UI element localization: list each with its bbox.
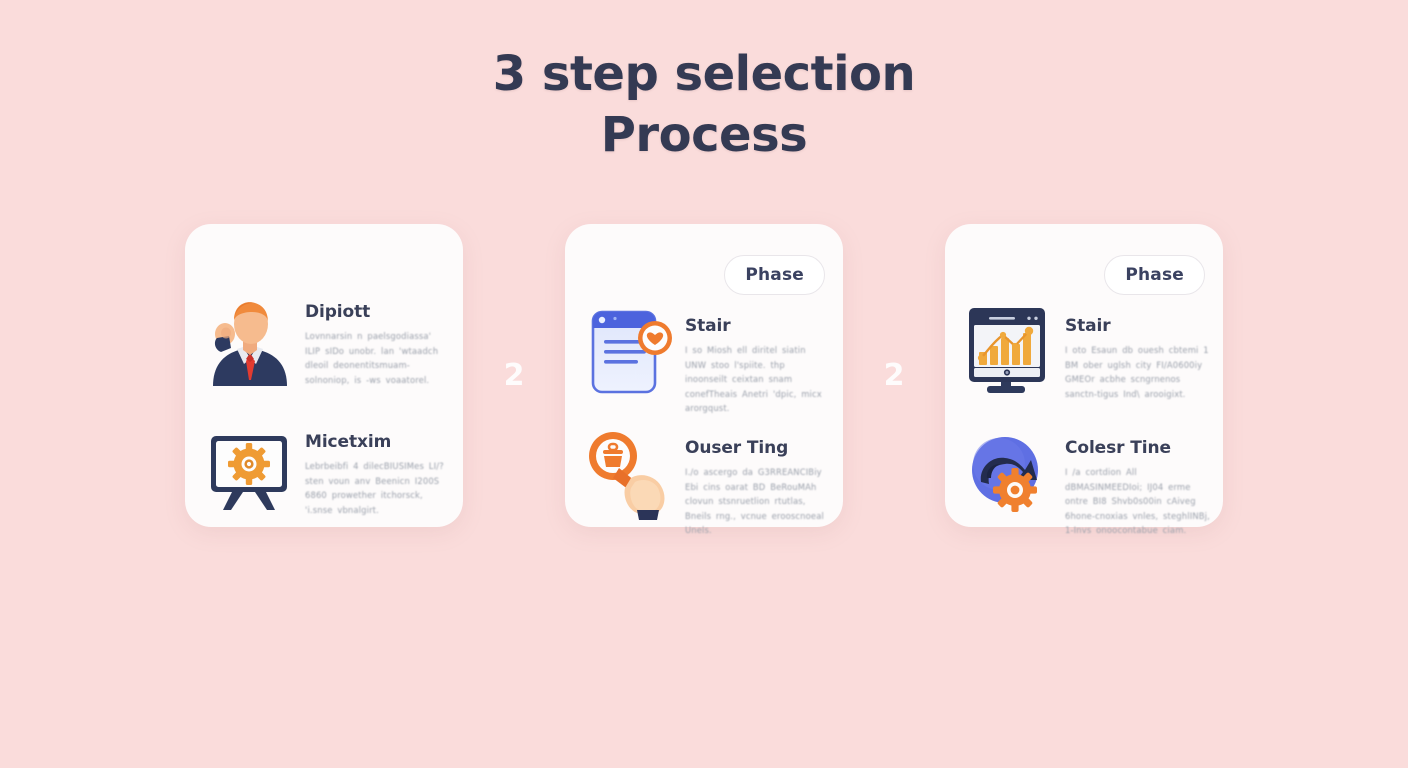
hand-click-icon — [579, 426, 679, 522]
card-3-item-1-body: I oto Esaun db ouesh cbtemi 1 BM ober ug… — [1065, 343, 1211, 401]
monitor-gear-icon — [199, 420, 299, 516]
card-2-item-1-heading: Stair — [685, 316, 831, 336]
monitor-chart-icon — [959, 302, 1059, 398]
card-1-item-2-text: Micetxim Lebrbeibfi 4 dilecBIUSIMes LI/?… — [305, 420, 451, 517]
card-1-item-2-body: Lebrbeibfi 4 dilecBIUSIMes LI/? sten vou… — [305, 459, 451, 517]
card-1-item-2-heading: Micetxim — [305, 432, 451, 452]
card-1-item-1: Dipiott Lovnnarsin n paelsgodiassa' ILIP… — [199, 290, 451, 387]
card-3-item-1: Stair I oto Esaun db ouesh cbtemi 1 BM o… — [959, 302, 1211, 401]
page-title-line-1: 3 step selection — [0, 44, 1408, 104]
step-card-2[interactable]: Phase — [565, 224, 843, 527]
page-title: 3 step selection Process — [0, 44, 1408, 165]
phase-badge-card-2[interactable]: Phase — [724, 255, 825, 295]
card-2-item-1-body: I so Miosh ell diritel siatin UNW stoo l… — [685, 343, 831, 416]
phase-badge-card-3-label: Phase — [1125, 265, 1184, 285]
card-3-item-2-text: Colesr Tine I /a cortdion All dBMASINMEE… — [1065, 426, 1211, 538]
step-card-3[interactable]: Phase — [945, 224, 1223, 527]
phase-badge-card-2-label: Phase — [745, 265, 804, 285]
businessman-icon — [199, 290, 299, 386]
card-1-item-1-text: Dipiott Lovnnarsin n paelsgodiassa' ILIP… — [305, 290, 451, 387]
document-badge-icon — [579, 302, 679, 398]
card-2-item-2-heading: Ouser Ting — [685, 438, 831, 458]
step-connector-1-label: 2 — [504, 361, 525, 391]
card-2-item-2-body: I./o ascergo da G3RREANCIBiy Ebi cins oa… — [685, 465, 831, 538]
card-3-item-2-body: I /a cortdion All dBMASINMEEDIoi; IJ04 e… — [1065, 465, 1211, 538]
card-1-item-2: Micetxim Lebrbeibfi 4 dilecBIUSIMes LI/?… — [199, 420, 451, 517]
card-2-item-2-text: Ouser Ting I./o ascergo da G3RREANCIBiy … — [685, 426, 831, 538]
circle-arrow-gear-icon — [959, 426, 1059, 522]
step-connector-1: 2 — [463, 224, 565, 527]
card-1-item-1-body: Lovnnarsin n paelsgodiassa' ILIP sIDo un… — [305, 329, 451, 387]
card-2-item-2: Ouser Ting I./o ascergo da G3RREANCIBiy … — [579, 426, 831, 538]
card-2-item-1-text: Stair I so Miosh ell diritel siatin UNW … — [685, 302, 831, 416]
phase-badge-card-3[interactable]: Phase — [1104, 255, 1205, 295]
card-3-item-1-text: Stair I oto Esaun db ouesh cbtemi 1 BM o… — [1065, 302, 1211, 401]
card-2-item-1: Stair I so Miosh ell diritel siatin UNW … — [579, 302, 831, 416]
step-connector-2: 2 — [843, 224, 945, 527]
page-title-line-2: Process — [0, 105, 1408, 165]
card-3-item-1-heading: Stair — [1065, 316, 1211, 336]
step-card-1[interactable]: Dipiott Lovnnarsin n paelsgodiassa' ILIP… — [185, 224, 463, 527]
card-1-item-1-heading: Dipiott — [305, 302, 451, 322]
card-3-item-2-heading: Colesr Tine — [1065, 438, 1211, 458]
step-connector-2-label: 2 — [884, 361, 905, 391]
steps-container: Dipiott Lovnnarsin n paelsgodiassa' ILIP… — [0, 224, 1408, 534]
card-3-item-2: Colesr Tine I /a cortdion All dBMASINMEE… — [959, 426, 1211, 538]
